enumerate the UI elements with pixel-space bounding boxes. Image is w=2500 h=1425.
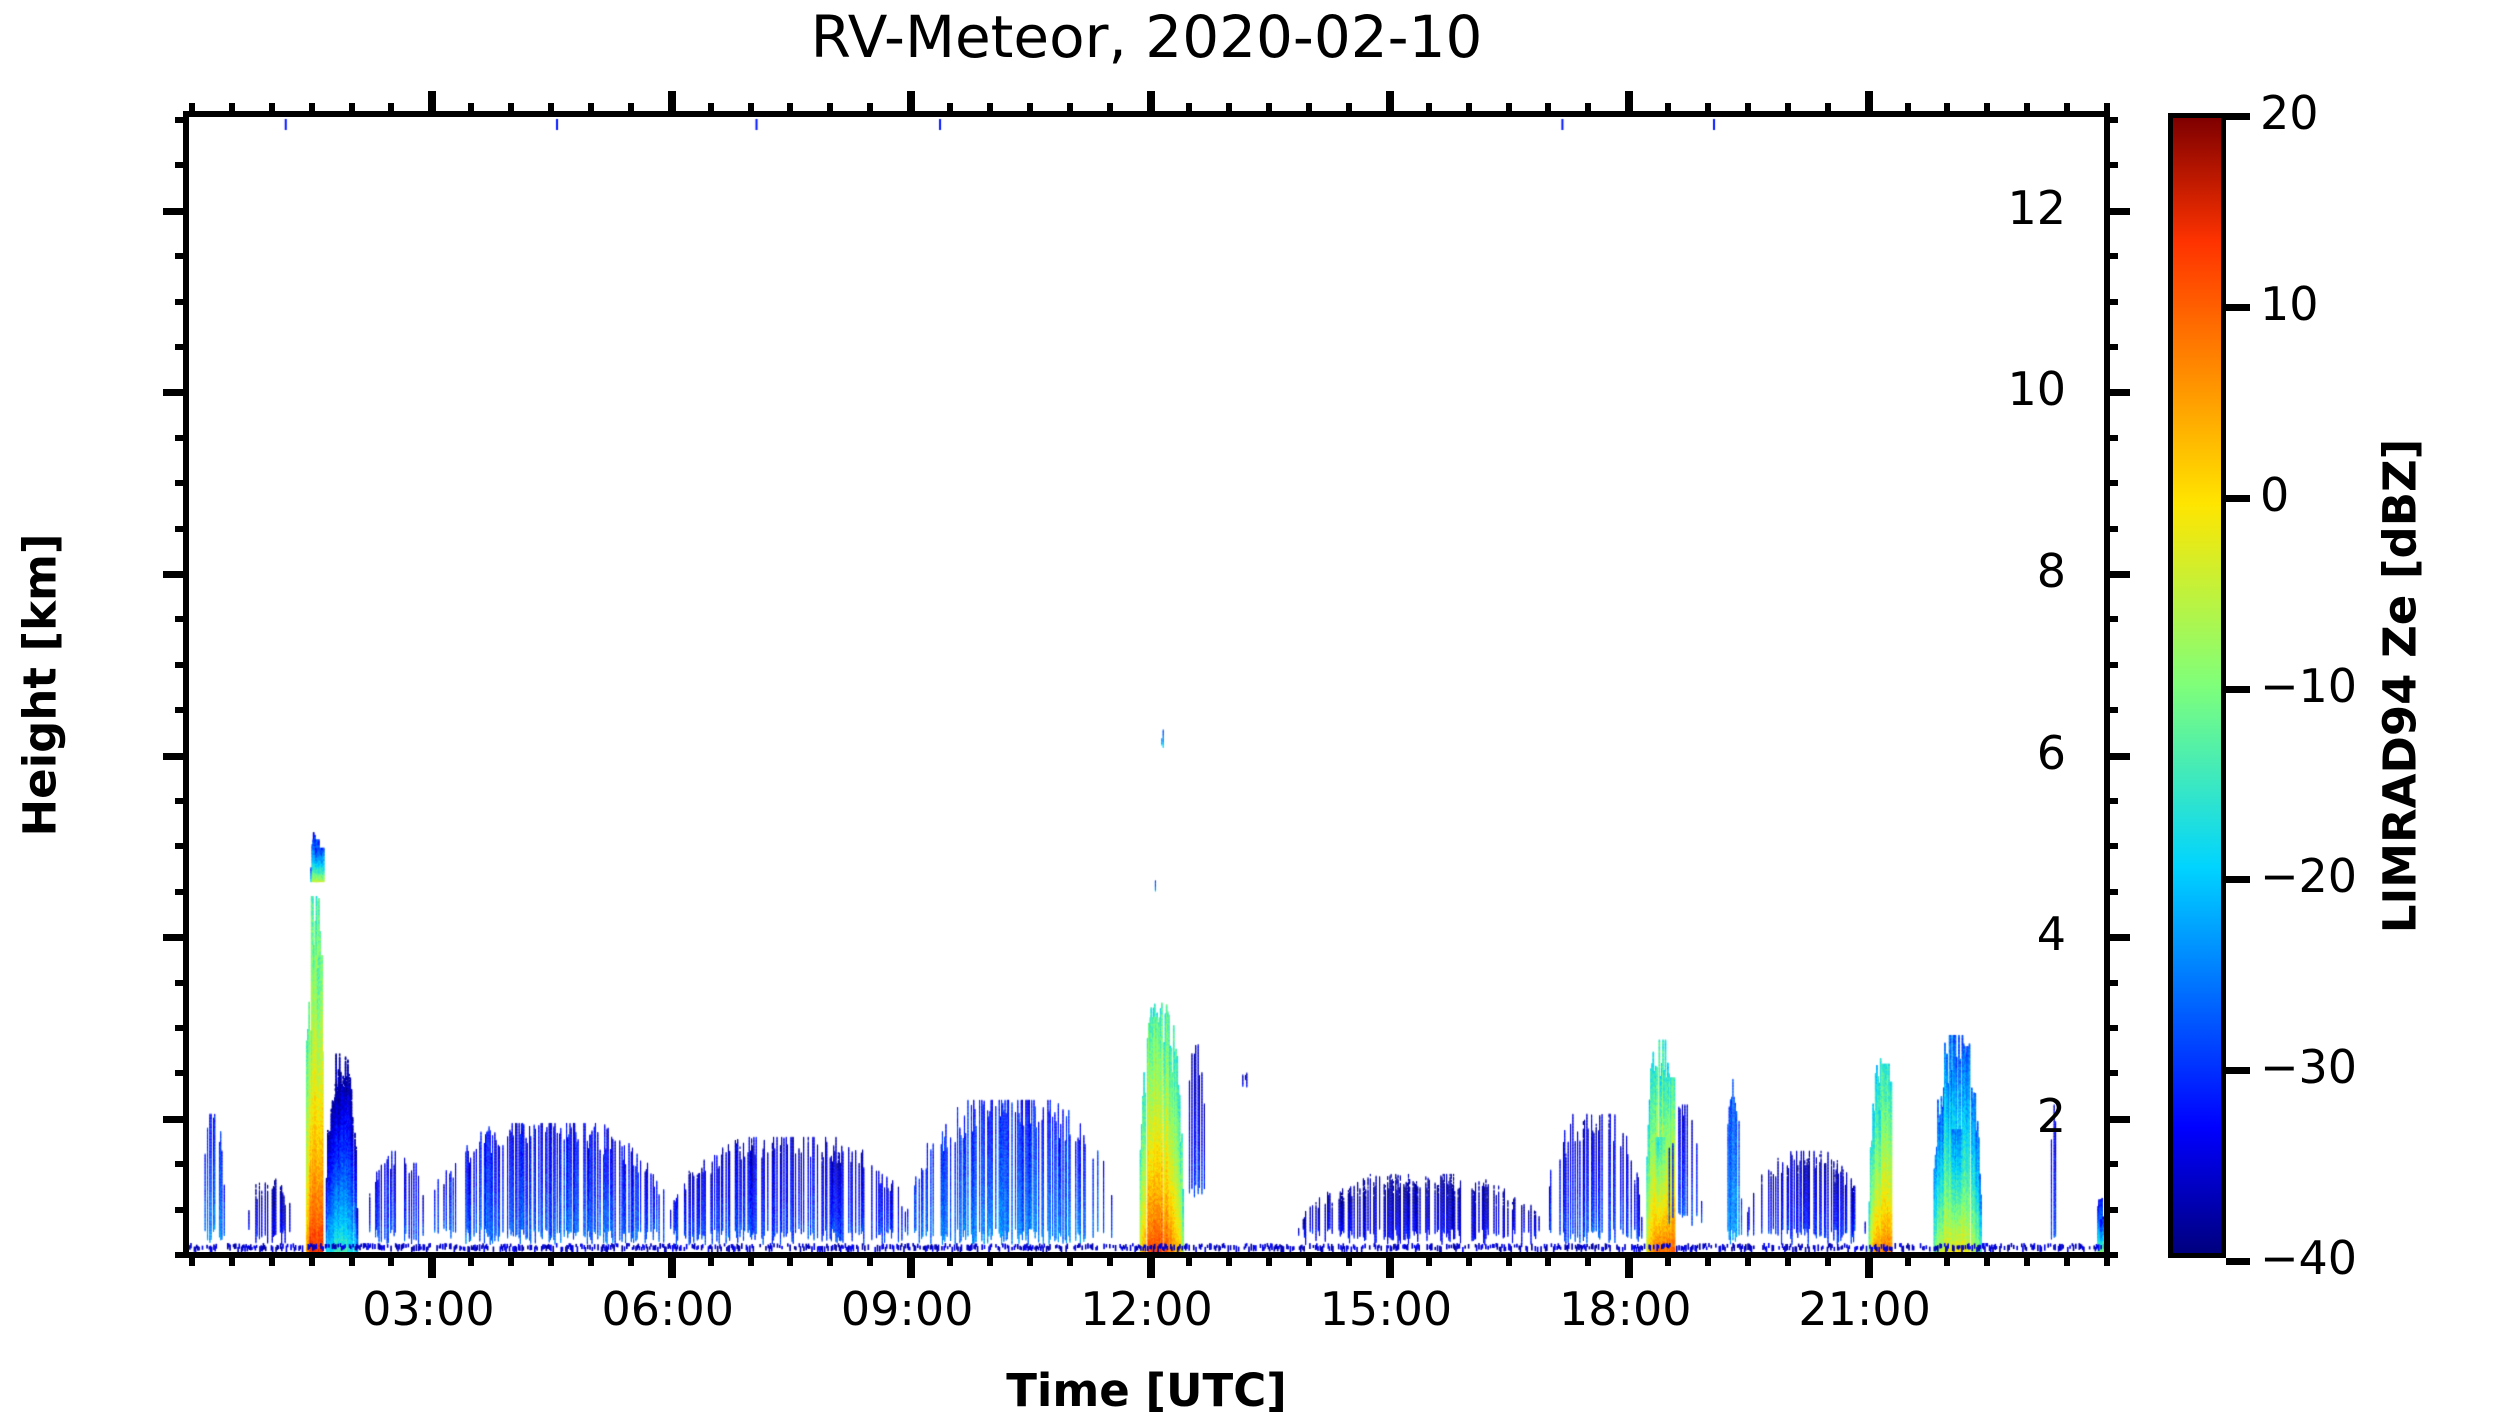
y-tick [163, 934, 189, 941]
x-tick-top [1785, 103, 1791, 117]
colorbar-tick-label: −40 [2260, 1231, 2357, 1285]
x-tick [708, 1252, 714, 1266]
colorbar-tick-label: 10 [2260, 277, 2319, 331]
y-tick [175, 1207, 189, 1213]
x-tick-top [748, 103, 754, 117]
x-tick-label: 15:00 [1320, 1282, 1453, 1336]
colorbar-box [2168, 113, 2226, 1258]
x-tick [309, 1252, 315, 1266]
x-tick-top [269, 103, 275, 117]
colorbar-tick-label: −10 [2260, 659, 2357, 713]
x-tick-top [1984, 103, 1990, 117]
y-tick-label: 10 [2007, 362, 2066, 416]
y-tick [163, 571, 189, 578]
x-tick [1107, 1252, 1113, 1266]
x-tick [1745, 1252, 1751, 1266]
colorbar-tick-label: 20 [2260, 86, 2319, 140]
x-tick-top [1905, 103, 1911, 117]
colorbar-tick-label: −30 [2260, 1040, 2357, 1094]
x-tick-top [1226, 103, 1232, 117]
y-tick-right [2104, 889, 2118, 895]
x-tick-top [428, 91, 436, 117]
y-tick-right [2104, 798, 2118, 804]
y-tick [175, 480, 189, 486]
y-tick [175, 117, 189, 123]
radar-timeheight-figure: RV-Meteor, 2020-02-10 Height [km] 246810… [0, 0, 2500, 1425]
x-tick-top [1147, 91, 1155, 117]
x-tick-top [388, 103, 394, 117]
x-tick-top [1825, 103, 1831, 117]
x-tick [1545, 1252, 1551, 1266]
x-tick-top [1665, 103, 1671, 117]
y-tick-right [2104, 1116, 2130, 1123]
x-tick-label: 21:00 [1798, 1282, 1931, 1336]
x-tick-top [827, 103, 833, 117]
x-tick [1226, 1252, 1232, 1266]
y-tick-right [2104, 117, 2118, 123]
y-tick [175, 798, 189, 804]
x-tick-top [229, 103, 235, 117]
x-tick [748, 1252, 754, 1266]
x-tick [1825, 1252, 1831, 1266]
x-axis-title: Time [UTC] [183, 1364, 2110, 1417]
x-tick [787, 1252, 793, 1266]
x-tick [628, 1252, 634, 1266]
y-tick-right [2104, 571, 2130, 578]
y-tick [175, 435, 189, 441]
x-tick-top [1865, 91, 1873, 117]
x-tick [987, 1252, 993, 1266]
colorbar-title: LIMRAD94 Ze [dBZ] [2370, 113, 2430, 1258]
colorbar-tick-label: 0 [2260, 468, 2289, 522]
x-tick-top [508, 103, 514, 117]
x-tick [1266, 1252, 1272, 1266]
y-tick [175, 253, 189, 259]
x-tick [1705, 1252, 1711, 1266]
x-tick [229, 1252, 235, 1266]
y-tick-right [2104, 344, 2118, 350]
y-tick [175, 344, 189, 350]
colorbar: 20100−10−20−30−40 [2168, 113, 2226, 1258]
x-tick [1585, 1252, 1591, 1266]
x-tick-top [867, 103, 873, 117]
x-tick-top [2064, 103, 2070, 117]
y-tick [175, 616, 189, 622]
x-tick-top [987, 103, 993, 117]
y-tick [175, 1025, 189, 1031]
y-axis-title: Height [km] [10, 111, 70, 1258]
x-tick-top [668, 91, 676, 117]
x-tick-top [1545, 103, 1551, 117]
x-tick [1147, 1252, 1155, 1278]
y-tick [163, 389, 189, 396]
x-tick-top [1107, 103, 1113, 117]
x-tick [1346, 1252, 1352, 1266]
y-tick [163, 208, 189, 215]
y-tick-right [2104, 616, 2118, 622]
y-tick-right [2104, 1070, 2118, 1076]
x-tick-top [628, 103, 634, 117]
x-tick-top [1426, 103, 1432, 117]
x-tick-top [1027, 103, 1033, 117]
y-tick [175, 707, 189, 713]
y-tick-label: 8 [2037, 544, 2066, 598]
x-tick [1067, 1252, 1073, 1266]
x-tick [668, 1252, 676, 1278]
y-tick [175, 162, 189, 168]
x-tick-top [947, 103, 953, 117]
y-tick-label: 2 [2037, 1089, 2066, 1143]
x-tick [1466, 1252, 1472, 1266]
y-tick-label: 12 [2007, 181, 2066, 235]
x-tick [1506, 1252, 1512, 1266]
y-tick-right [2104, 753, 2130, 760]
plot-axes: 2468101203:0006:0009:0012:0015:0018:0021… [183, 111, 2110, 1258]
colorbar-tick [2226, 1258, 2250, 1265]
x-tick [189, 1252, 195, 1266]
y-tick-right [2104, 526, 2118, 532]
x-tick-top [708, 103, 714, 117]
x-tick-top [2104, 103, 2110, 117]
colorbar-tick [2226, 876, 2250, 883]
y-tick-right [2104, 843, 2118, 849]
x-tick-top [309, 103, 315, 117]
x-tick-top [468, 103, 474, 117]
x-tick-top [1386, 91, 1394, 117]
colorbar-tick [2226, 113, 2250, 120]
x-tick-label: 18:00 [1559, 1282, 1692, 1336]
x-tick-top [548, 103, 554, 117]
x-tick-top [1745, 103, 1751, 117]
x-tick-top [189, 103, 195, 117]
x-tick [1865, 1252, 1873, 1278]
y-tick-right [2104, 299, 2118, 305]
y-tick-label: 4 [2037, 907, 2066, 961]
x-tick-top [588, 103, 594, 117]
x-tick-top [1306, 103, 1312, 117]
x-tick [548, 1252, 554, 1266]
x-tick [349, 1252, 355, 1266]
y-tick-right [2104, 707, 2118, 713]
x-tick [1944, 1252, 1950, 1266]
x-tick [468, 1252, 474, 1266]
colorbar-tick [2226, 1067, 2250, 1074]
x-tick [907, 1252, 915, 1278]
x-tick-label: 12:00 [1080, 1282, 1213, 1336]
x-tick [867, 1252, 873, 1266]
x-tick [2064, 1252, 2070, 1266]
y-tick-right [2104, 253, 2118, 259]
x-tick-top [349, 103, 355, 117]
colorbar-title-text: LIMRAD94 Ze [dBZ] [2374, 438, 2427, 932]
x-tick-top [1466, 103, 1472, 117]
y-tick-right [2104, 1161, 2118, 1167]
x-tick [1306, 1252, 1312, 1266]
x-tick [588, 1252, 594, 1266]
x-tick-top [787, 103, 793, 117]
y-tick-right [2104, 1025, 2118, 1031]
y-tick [163, 753, 189, 760]
x-tick [428, 1252, 436, 1278]
x-tick-top [1067, 103, 1073, 117]
x-tick-top [1346, 103, 1352, 117]
x-tick-top [907, 91, 915, 117]
x-tick-top [1944, 103, 1950, 117]
x-tick [1665, 1252, 1671, 1266]
x-tick [947, 1252, 953, 1266]
x-tick-top [1506, 103, 1512, 117]
x-tick [269, 1252, 275, 1266]
colorbar-tick [2226, 304, 2250, 311]
y-tick [175, 299, 189, 305]
x-tick-top [1585, 103, 1591, 117]
x-tick [2024, 1252, 2030, 1266]
colorbar-tick [2226, 495, 2250, 502]
x-tick [1386, 1252, 1394, 1278]
x-tick [1905, 1252, 1911, 1266]
reflectivity-heatmap [189, 117, 2104, 1252]
y-tick-right [2104, 389, 2130, 396]
colorbar-gradient [2173, 118, 2221, 1253]
y-tick-right [2104, 662, 2118, 668]
y-tick [175, 889, 189, 895]
x-tick [1426, 1252, 1432, 1266]
x-tick [1027, 1252, 1033, 1266]
x-tick-top [1705, 103, 1711, 117]
x-tick-top [1186, 103, 1192, 117]
y-tick-label: 6 [2037, 726, 2066, 780]
x-tick-label: 06:00 [601, 1282, 734, 1336]
x-tick [1984, 1252, 1990, 1266]
x-tick [388, 1252, 394, 1266]
x-tick-top [1625, 91, 1633, 117]
x-tick-top [1266, 103, 1272, 117]
y-tick [175, 526, 189, 532]
x-tick-top [2024, 103, 2030, 117]
y-tick [175, 980, 189, 986]
y-tick [175, 843, 189, 849]
x-tick-label: 03:00 [362, 1282, 495, 1336]
y-tick-right [2104, 435, 2118, 441]
x-tick [1625, 1252, 1633, 1278]
x-tick [1785, 1252, 1791, 1266]
y-axis-title-text: Height [km] [14, 533, 67, 836]
colorbar-tick-label: −20 [2260, 849, 2357, 903]
x-tick-label: 09:00 [841, 1282, 974, 1336]
y-tick [175, 662, 189, 668]
plot-area [189, 117, 2104, 1252]
x-tick [2104, 1252, 2110, 1266]
y-tick-right [2104, 1207, 2118, 1213]
y-tick [175, 1252, 189, 1258]
x-tick [1186, 1252, 1192, 1266]
y-tick [175, 1161, 189, 1167]
y-tick-right [2104, 162, 2118, 168]
y-tick-right [2104, 208, 2130, 215]
y-tick [163, 1116, 189, 1123]
y-tick-right [2104, 980, 2118, 986]
x-tick [508, 1252, 514, 1266]
y-tick-right [2104, 480, 2118, 486]
colorbar-tick [2226, 686, 2250, 693]
chart-title: RV-Meteor, 2020-02-10 [183, 8, 2110, 66]
y-tick [175, 1070, 189, 1076]
x-tick [827, 1252, 833, 1266]
y-tick-right [2104, 934, 2130, 941]
